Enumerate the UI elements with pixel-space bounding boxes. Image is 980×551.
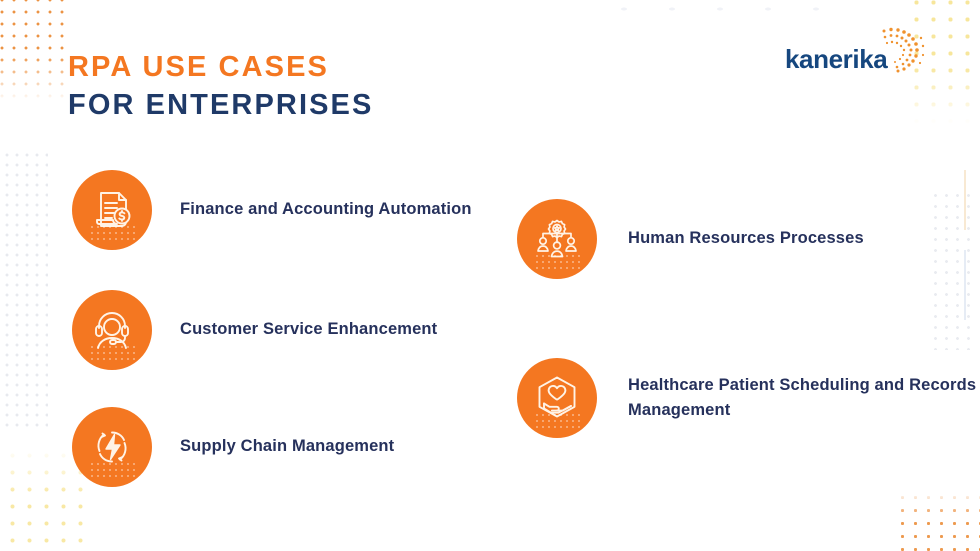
page-title: RPA USE CASES FOR ENTERPRISES xyxy=(68,48,373,125)
list-item[interactable]: Healthcare Patient Scheduling and Record… xyxy=(517,358,980,438)
dot-grid-top-left-icon xyxy=(0,0,68,102)
accent-line-blue-icon xyxy=(964,250,966,320)
list-item[interactable]: Customer Service Enhancement xyxy=(72,290,437,370)
page-title-line-1: RPA USE CASES xyxy=(68,48,373,86)
dot-row-top-icon xyxy=(600,0,820,18)
list-item-label: Human Resources Processes xyxy=(628,226,864,251)
brand-logo: kanerika xyxy=(785,30,925,84)
list-item[interactable]: Supply Chain Management xyxy=(72,407,394,487)
lightning-refresh-icon xyxy=(72,407,152,487)
infographic-slide: RPA USE CASES FOR ENTERPRISES kanerika xyxy=(0,0,980,551)
people-gear-network-icon xyxy=(517,199,597,279)
accent-line-orange-icon xyxy=(964,170,966,230)
list-item-label: Finance and Accounting Automation xyxy=(180,197,472,222)
dot-grid-right-edge-icon xyxy=(930,190,974,350)
invoice-dollar-icon xyxy=(72,170,152,250)
list-item-label: Supply Chain Management xyxy=(180,434,394,459)
dot-grid-bottom-right-icon xyxy=(896,491,980,551)
hand-heart-hexagon-icon xyxy=(517,358,597,438)
headset-agent-icon xyxy=(72,290,152,370)
page-title-line-2: FOR ENTERPRISES xyxy=(68,86,373,124)
list-item-label: Customer Service Enhancement xyxy=(180,317,437,342)
list-item-label: Healthcare Patient Scheduling and Record… xyxy=(628,373,980,423)
list-item[interactable]: Finance and Accounting Automation xyxy=(72,170,472,250)
swoosh-icon xyxy=(851,24,929,78)
list-item[interactable]: Human Resources Processes xyxy=(517,199,864,279)
dot-grid-left-edge-icon xyxy=(2,150,48,430)
